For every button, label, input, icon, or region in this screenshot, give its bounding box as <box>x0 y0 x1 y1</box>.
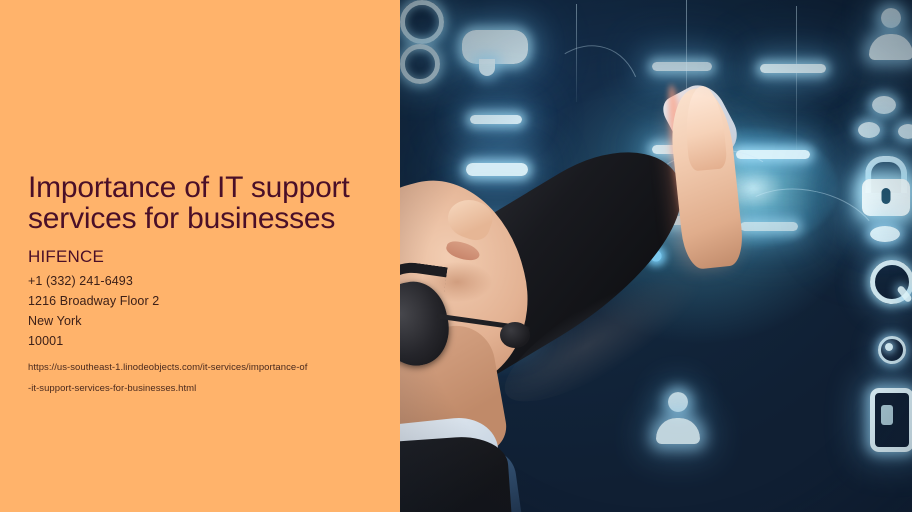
info-panel: Importance of IT support services for bu… <box>0 0 400 512</box>
address-street: 1216 Broadway Floor 2 <box>28 291 372 311</box>
hero-photo <box>400 0 912 512</box>
source-url[interactable]: https://us-southeast-1.linodeobjects.com… <box>28 357 372 399</box>
text-block: Importance of IT support services for bu… <box>28 172 372 399</box>
photo-vignette <box>400 0 912 512</box>
source-url-line-1[interactable]: https://us-southeast-1.linodeobjects.com… <box>28 357 372 378</box>
address-city: New York <box>28 311 372 331</box>
phone-number[interactable]: +1 (332) 241-6493 <box>28 271 372 291</box>
source-url-line-2[interactable]: -it-support-services-for-businesses.html <box>28 378 372 399</box>
address-zip: 10001 <box>28 331 372 351</box>
poster-canvas: Importance of IT support services for bu… <box>0 0 912 512</box>
page-title: Importance of IT support services for bu… <box>28 172 372 234</box>
brand-name: HIFENCE <box>28 247 372 267</box>
